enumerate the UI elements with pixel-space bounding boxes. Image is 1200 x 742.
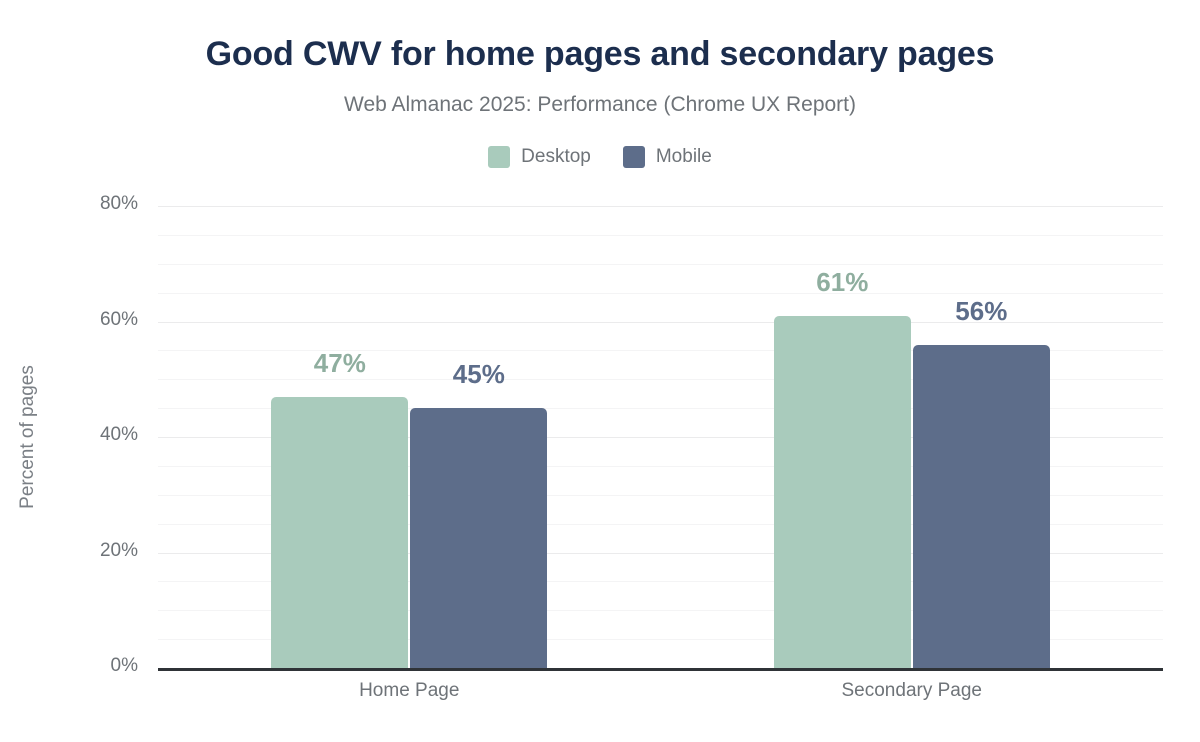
bar-value-label: 45% — [453, 359, 505, 389]
legend-swatch-mobile — [623, 146, 645, 168]
legend-item-desktop[interactable]: Desktop — [488, 146, 591, 168]
x-axis-tick-label: Home Page — [359, 678, 459, 704]
gridline — [158, 206, 1163, 207]
bar-mobile-home-page[interactable] — [410, 408, 547, 668]
x-axis-tick-label: Secondary Page — [842, 678, 983, 704]
y-axis-tick-label: 0% — [0, 655, 138, 677]
legend-item-mobile[interactable]: Mobile — [623, 146, 712, 168]
bar-desktop-secondary-page[interactable] — [774, 316, 911, 668]
legend-label-mobile: Mobile — [656, 146, 712, 168]
bar-chart: Good CWV for home pages and secondary pa… — [0, 0, 1200, 742]
bar-value-label: 47% — [314, 348, 366, 378]
x-axis-line — [158, 668, 1163, 671]
y-axis-ticks: 0%20%40%60%80% — [0, 0, 148, 742]
legend-swatch-desktop — [488, 146, 510, 168]
legend-label-desktop: Desktop — [521, 146, 591, 168]
bar-desktop-home-page[interactable] — [271, 397, 408, 668]
y-axis-tick-label: 60% — [0, 309, 138, 331]
chart-legend: Desktop Mobile — [0, 143, 1200, 171]
plot-area: 47%45%61%56% — [158, 206, 1163, 668]
gridline — [158, 322, 1163, 323]
y-axis-tick-label: 80% — [0, 193, 138, 215]
gridline — [158, 293, 1163, 294]
gridline — [158, 235, 1163, 236]
chart-subtitle: Web Almanac 2025: Performance (Chrome UX… — [0, 91, 1200, 119]
bar-value-label: 61% — [816, 267, 868, 297]
bar-mobile-secondary-page[interactable] — [913, 345, 1050, 668]
y-axis-tick-label: 20% — [0, 540, 138, 562]
gridline — [158, 264, 1163, 265]
chart-title: Good CWV for home pages and secondary pa… — [0, 31, 1200, 77]
y-axis-tick-label: 40% — [0, 424, 138, 446]
bar-value-label: 56% — [955, 296, 1007, 326]
